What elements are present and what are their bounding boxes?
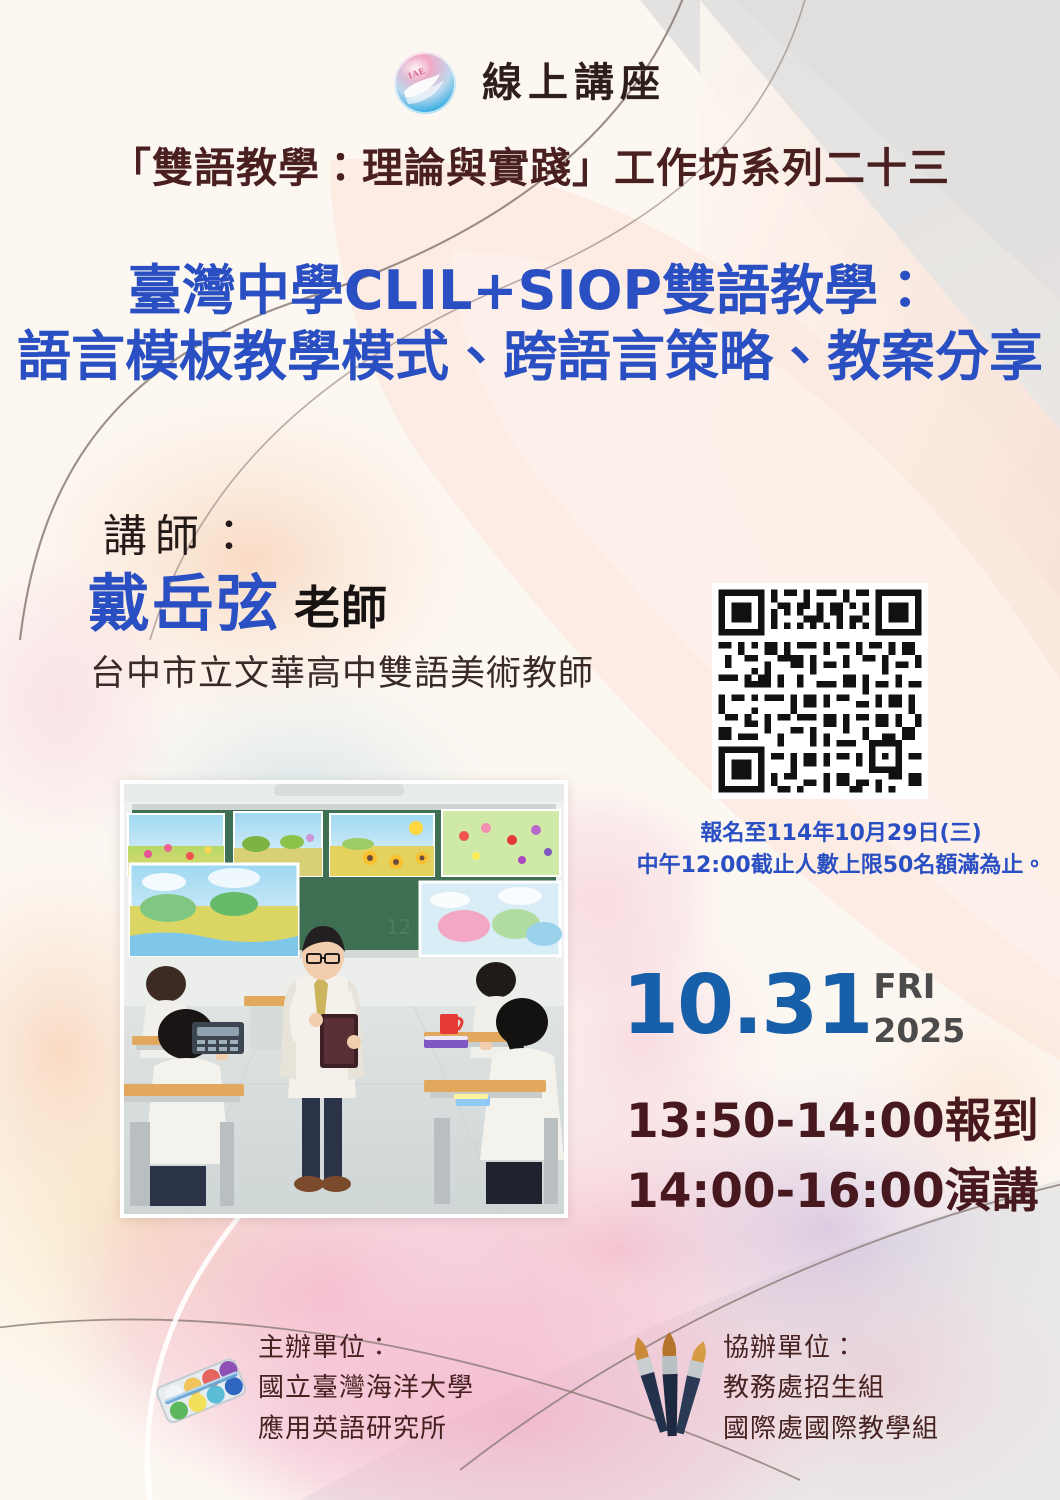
speaker-name: 戴岳弦 [88,573,280,635]
main-title-line1: 臺灣中學CLIL+SIOP雙語教學： [0,258,1060,324]
event-year: 2025 [873,1014,965,1047]
event-date-side: FRI 2025 [873,968,965,1047]
event-date-block: 10.31 FRI 2025 [622,968,965,1047]
svg-text:12: 12 [386,915,411,939]
qr-code-icon [712,583,928,799]
speaker-affiliation: 台中市立文華高中雙語美術教師 [90,645,594,696]
logo-wave-shape [394,52,456,114]
organizer-block: 主辦單位： 國立臺灣海洋大學 應用英語研究所 [258,1328,474,1449]
speaker-name-row: 戴岳弦 老師 [88,573,388,635]
main-title: 臺灣中學CLIL+SIOP雙語教學： 語言模板教學模式、跨語言策略、教案分享 [0,258,1060,390]
speaker-label: 講師： [103,500,259,564]
speaker-title-suffix: 老師 [294,585,388,635]
paintbrushes-icon [626,1330,718,1442]
organizer-line2: 應用英語研究所 [258,1409,474,1449]
classroom-photo: 12 [120,780,568,1218]
main-title-line2: 語言模板教學模式、跨語言策略、教案分享 [0,324,1060,390]
co-organizer-label: 協辦單位： [723,1328,939,1368]
deadline-line1: 報名至114年10月29日(三) [636,818,1046,850]
deadline-line2: 中午12:00截止人數上限50名額滿為止。 [636,850,1046,882]
organizer-label: 主辦單位： [258,1328,474,1368]
co-organizer-line2: 國際處國際教學組 [723,1409,939,1449]
online-lecture-label: 線上講座 [482,63,666,103]
header: IAE 線上講座 [0,52,1060,114]
poster-root: IAE 線上講座 「雙語教學：理論與實踐」工作坊系列二十三 臺灣中學CLIL+S… [0,0,1060,1500]
registration-deadline: 報名至114年10月29日(三) 中午12:00截止人數上限50名額滿為止。 [636,818,1046,882]
co-organizer-block: 協辦單位： 教務處招生組 國際處國際教學組 [723,1328,939,1449]
schedule-talk: 14:00-16:00演講 [626,1152,1039,1221]
organizer-line1: 國立臺灣海洋大學 [258,1368,474,1408]
event-date: 10.31 [622,968,871,1043]
registration-qr-code[interactable] [712,583,928,799]
classroom-illustration: 12 [124,784,564,1214]
co-organizer-line1: 教務處招生組 [723,1368,939,1408]
series-title: 「雙語教學：理論與實踐」工作坊系列二十三 [0,134,1060,194]
event-day-of-week: FRI [873,970,965,1004]
iae-logo-icon: IAE [394,52,456,114]
watercolor-palette-icon [152,1352,250,1434]
schedule-checkin: 13:50-14:00報到 [626,1082,1039,1151]
